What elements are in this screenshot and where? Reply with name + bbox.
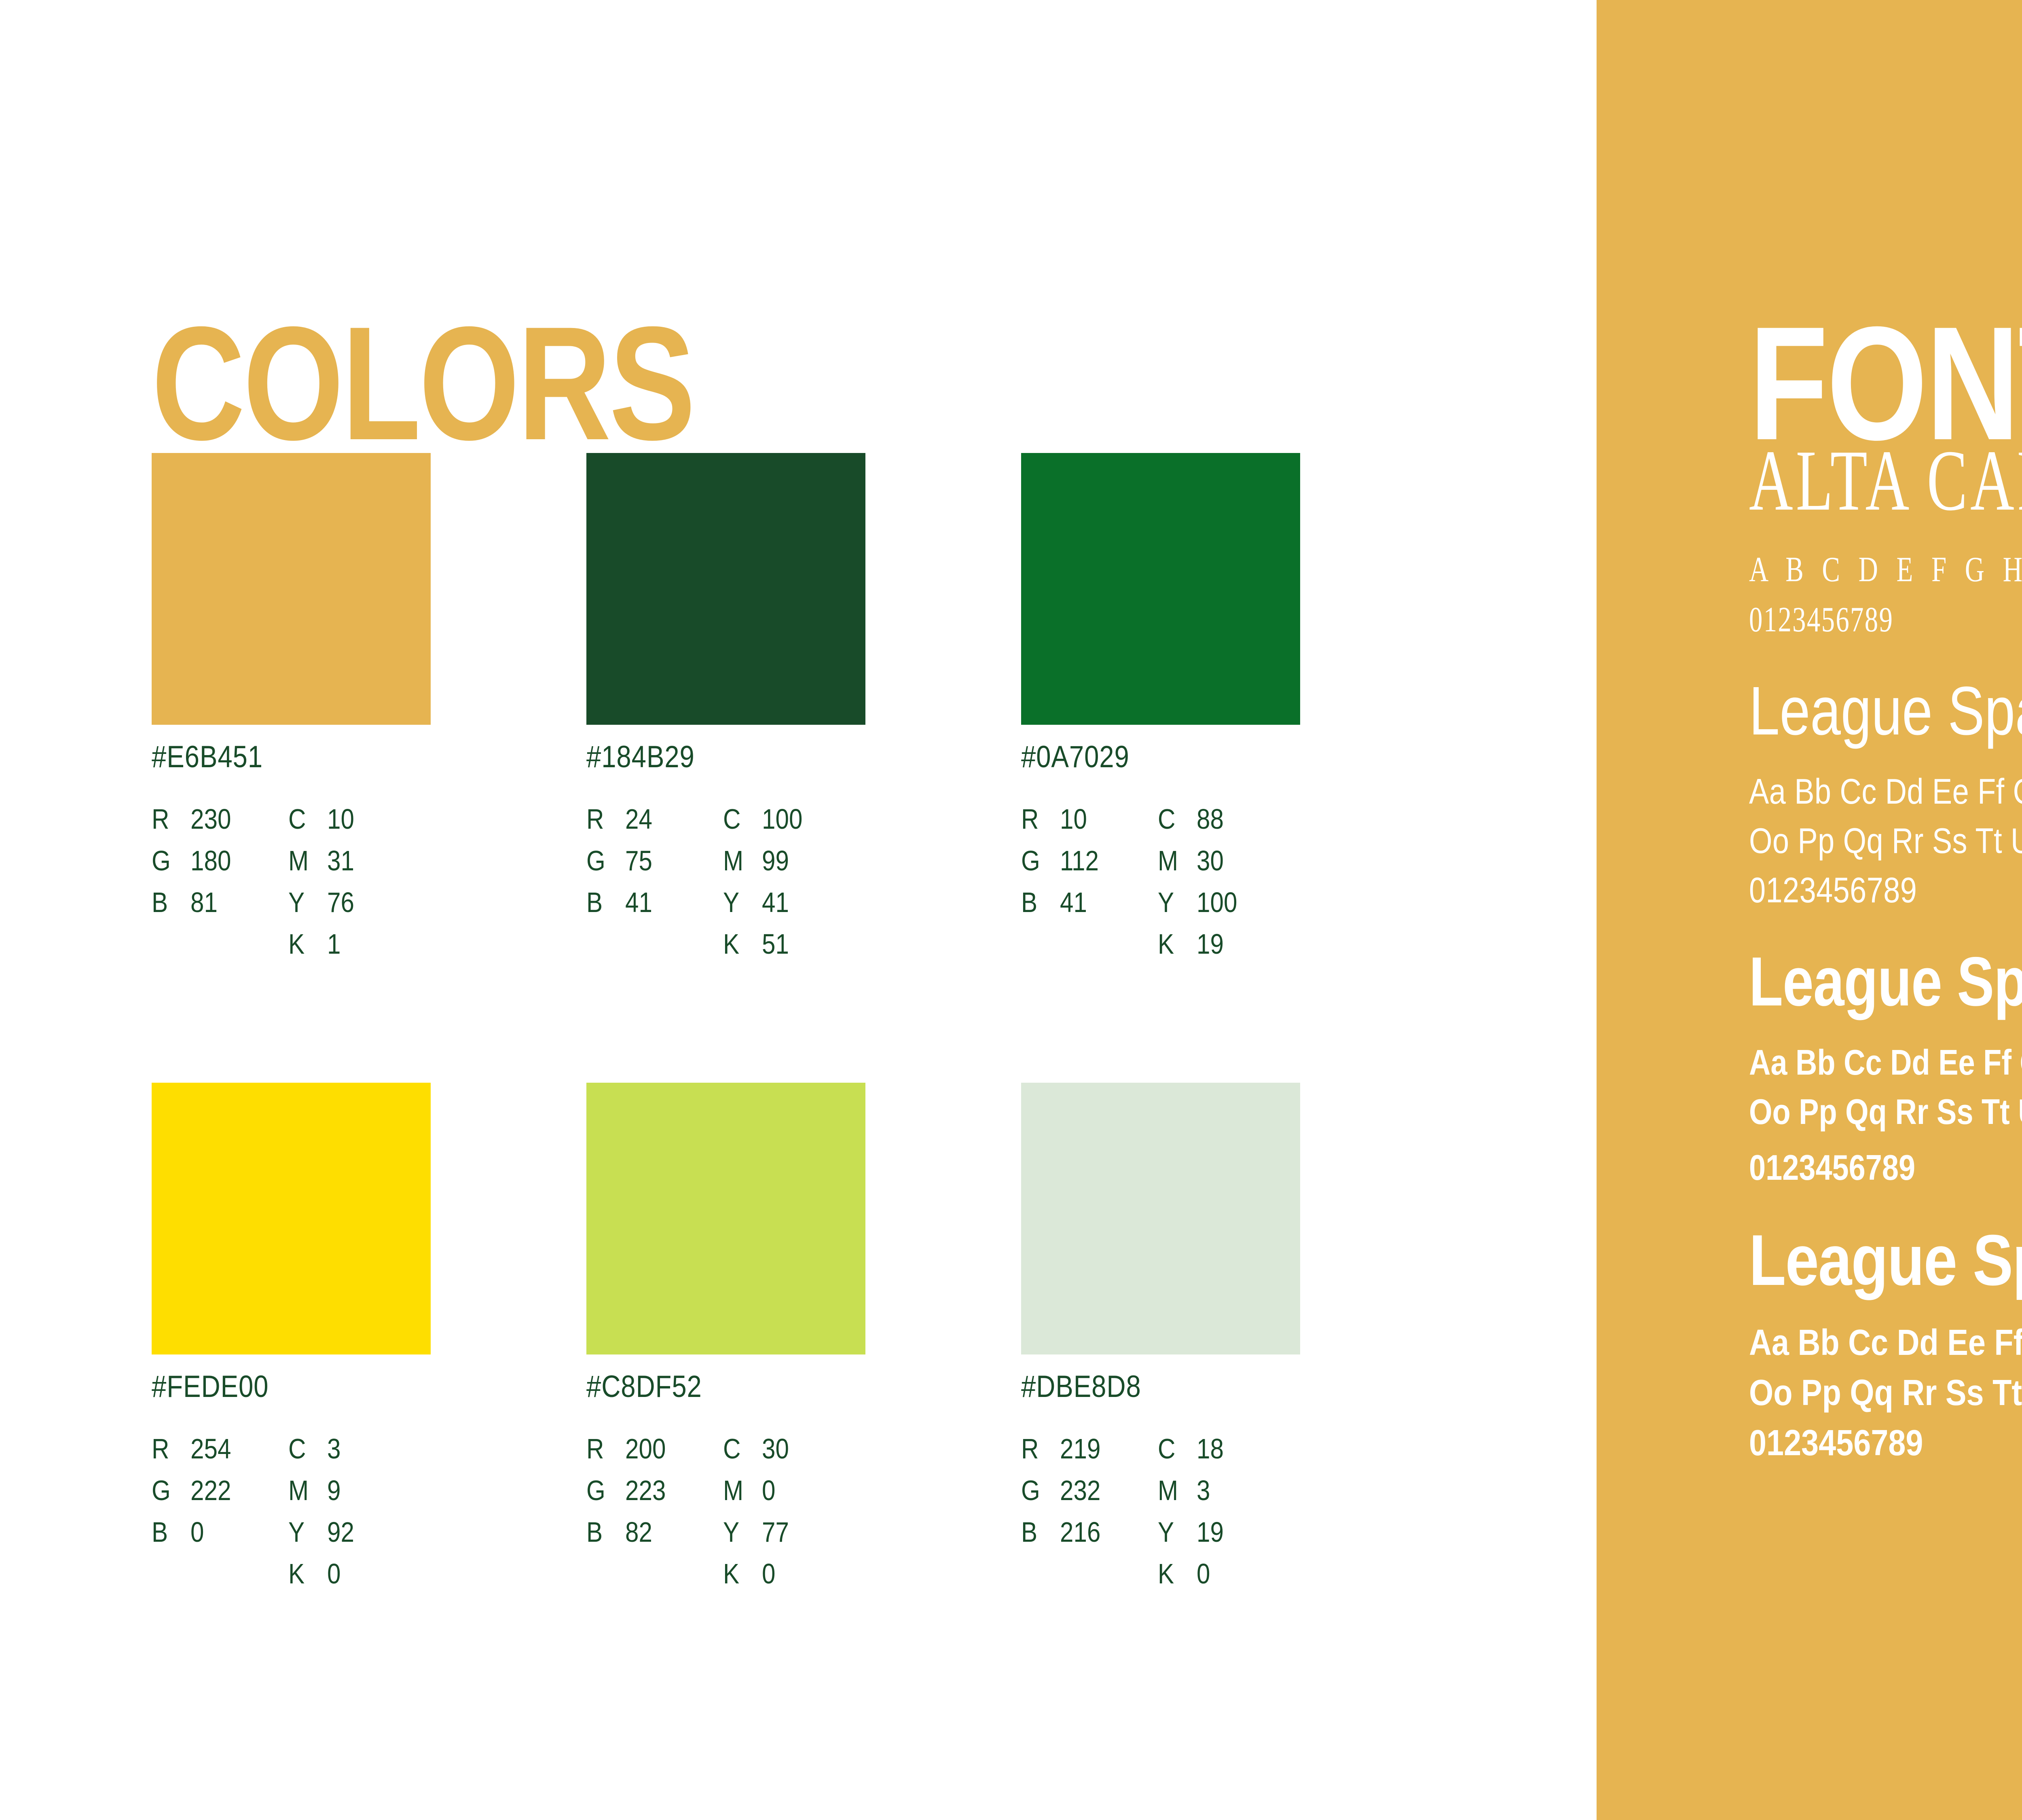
- rgb-column: R10 G112 B41: [1021, 805, 1158, 971]
- rgb-row: G180: [152, 847, 288, 888]
- cmyk-value: 76: [327, 888, 354, 916]
- font-specimen-alta-caption[interactable]: ALTA CAPTION A B C D E F G H I J K L M N…: [1749, 437, 2022, 638]
- color-chip: [586, 1083, 865, 1354]
- cmyk-value: 1: [327, 930, 341, 958]
- cmyk-row: M30: [1158, 847, 1294, 888]
- rgb-column: R230 G180 B81: [152, 805, 288, 971]
- cmyk-key: M: [723, 847, 757, 875]
- rgb-value: 0: [190, 1518, 204, 1546]
- swatch-hex-label: #0A7029: [1021, 742, 1261, 772]
- rgb-row: R200: [586, 1435, 723, 1476]
- cmyk-key: M: [288, 1476, 322, 1505]
- color-chip: [1021, 453, 1300, 725]
- color-chip: [152, 453, 431, 725]
- cmyk-row: Y92: [288, 1518, 425, 1560]
- rgb-value: 232: [1060, 1476, 1100, 1505]
- cmyk-key: C: [723, 805, 757, 833]
- cmyk-value: 100: [1197, 888, 1237, 916]
- cmyk-key: K: [1158, 1560, 1191, 1588]
- rgb-row: G223: [586, 1476, 723, 1518]
- cmyk-value: 51: [762, 930, 789, 958]
- cmyk-row: M9: [288, 1476, 425, 1518]
- cmyk-key: C: [1158, 805, 1191, 833]
- rgb-row: B41: [1021, 888, 1158, 930]
- font-specimen-line-1: Aa Bb Cc Dd Ee Ff Gg Hh Ii Jj Kk Ll Mm N…: [1749, 1325, 2022, 1361]
- font-specimen-uppercase: A B C D E F G H I J K L M N O P Q R S T …: [1749, 552, 2022, 588]
- swatch-values: R254 G222 B0 C3 M9 Y92 K0: [152, 1435, 431, 1601]
- rgb-key: G: [1021, 847, 1055, 875]
- colors-panel: COLORS #E6B451 R230 G180 B81: [0, 0, 1597, 1820]
- cmyk-column: C88 M30 Y100 K19: [1158, 805, 1294, 971]
- rgb-column: R24 G75 B41: [586, 805, 723, 971]
- cmyk-value: 99: [762, 847, 789, 875]
- rgb-key: R: [1021, 805, 1055, 833]
- rgb-key: R: [1021, 1435, 1055, 1463]
- swatch-hex-label: #184B29: [586, 742, 826, 772]
- rgb-value: 10: [1060, 805, 1087, 833]
- cmyk-row: C30: [723, 1435, 860, 1476]
- cmyk-value: 77: [762, 1518, 789, 1546]
- rgb-key: G: [152, 1476, 185, 1505]
- cmyk-row: M0: [723, 1476, 860, 1518]
- rgb-key: B: [586, 888, 620, 916]
- cmyk-value: 10: [327, 805, 354, 833]
- cmyk-row: K0: [1158, 1560, 1294, 1601]
- color-swatch-card[interactable]: #FEDE00 R254 G222 B0 C3 M9 Y92 K0: [152, 1083, 431, 1601]
- rgb-row: R10: [1021, 805, 1158, 847]
- rgb-row: G75: [586, 847, 723, 888]
- cmyk-key: K: [288, 930, 322, 958]
- rgb-row: R219: [1021, 1435, 1158, 1476]
- cmyk-value: 19: [1197, 1518, 1224, 1546]
- cmyk-value: 0: [327, 1560, 341, 1588]
- page-title-colors: COLORS: [152, 303, 694, 464]
- rgb-value: 41: [1060, 888, 1087, 916]
- color-chip: [1021, 1083, 1300, 1354]
- font-specimen-numerals: 0123456789: [1749, 1150, 2022, 1185]
- cmyk-value: 31: [327, 847, 354, 875]
- cmyk-row: M3: [1158, 1476, 1294, 1518]
- cmyk-value: 3: [1197, 1476, 1210, 1505]
- swatch-row: #FEDE00 R254 G222 B0 C3 M9 Y92 K0: [152, 1083, 1365, 1601]
- cmyk-row: C10: [288, 805, 425, 847]
- rgb-value: 81: [190, 888, 218, 916]
- cmyk-row: Y77: [723, 1518, 860, 1560]
- swatch-hex-label: #E6B451: [152, 742, 391, 772]
- cmyk-row: K0: [723, 1560, 860, 1601]
- rgb-key: G: [152, 847, 185, 875]
- cmyk-row: C88: [1158, 805, 1294, 847]
- font-specimen-line-1: Aa Bb Cc Dd Ee Ff Gg Hh Ii Jj Kk Ll Mm N…: [1749, 1045, 2022, 1080]
- rgb-key: R: [586, 1435, 620, 1463]
- rgb-key: R: [152, 1435, 185, 1463]
- rgb-column: R219 G232 B216: [1021, 1435, 1158, 1601]
- cmyk-value: 41: [762, 888, 789, 916]
- cmyk-key: M: [723, 1476, 757, 1505]
- cmyk-value: 3: [327, 1435, 341, 1463]
- rgb-value: 200: [625, 1435, 666, 1463]
- rgb-column: R200 G223 B82: [586, 1435, 723, 1601]
- font-specimen-numerals: 0123456789: [1749, 1425, 2022, 1461]
- color-swatch-card[interactable]: #DBE8D8 R219 G232 B216 C18 M3 Y19 K: [1021, 1083, 1300, 1601]
- font-specimen-league-spartan-medium[interactable]: League Spartan Medium Aa Bb Cc Dd Ee Ff …: [1749, 947, 2022, 1185]
- rgb-row: R254: [152, 1435, 288, 1476]
- font-specimen-line-2: Oo Pp Qq Rr Ss Tt Uu Vv Ww Xx Yy Zz: [1749, 1094, 2022, 1130]
- font-specimen-line-1: Aa Bb Cc Dd Ee Ff Gg Hh Ii Jj Kk Ll Mm N…: [1749, 774, 2022, 809]
- cmyk-row: M31: [288, 847, 425, 888]
- cmyk-key: C: [288, 805, 322, 833]
- cmyk-row: C18: [1158, 1435, 1294, 1476]
- cmyk-value: 0: [762, 1476, 775, 1505]
- rgb-value: 222: [190, 1476, 231, 1505]
- cmyk-key: C: [288, 1435, 322, 1463]
- cmyk-key: Y: [288, 1518, 322, 1546]
- rgb-key: G: [1021, 1476, 1055, 1505]
- cmyk-column: C100 M99 Y41 K51: [723, 805, 860, 971]
- rgb-row: B82: [586, 1518, 723, 1560]
- rgb-key: R: [152, 805, 185, 833]
- rgb-value: 75: [625, 847, 652, 875]
- cmyk-row: Y19: [1158, 1518, 1294, 1560]
- cmyk-column: C10 M31 Y76 K1: [288, 805, 425, 971]
- rgb-row: B81: [152, 888, 288, 930]
- color-chip: [586, 453, 865, 725]
- cmyk-key: Y: [723, 888, 757, 916]
- cmyk-value: 92: [327, 1518, 354, 1546]
- rgb-key: B: [1021, 888, 1055, 916]
- rgb-value: 216: [1060, 1518, 1100, 1546]
- swatch-values: R219 G232 B216 C18 M3 Y19 K0: [1021, 1435, 1300, 1601]
- swatch-values: R200 G223 B82 C30 M0 Y77 K0: [586, 1435, 865, 1601]
- swatch-row: #E6B451 R230 G180 B81 C10 M31 Y76 K: [152, 453, 1365, 971]
- cmyk-value: 0: [1197, 1560, 1210, 1588]
- cmyk-key: C: [1158, 1435, 1191, 1463]
- cmyk-row: K1: [288, 930, 425, 971]
- swatch-hex-label: #C8DF52: [586, 1371, 826, 1402]
- rgb-column: R254 G222 B0: [152, 1435, 288, 1601]
- font-specimen-line-2: Oo Pp Qq Rr Ss Tt Uu Vv Ww Xx Yy Zz: [1749, 823, 2022, 859]
- rgb-value: 24: [625, 805, 652, 833]
- rgb-row: B41: [586, 888, 723, 930]
- cmyk-row: Y76: [288, 888, 425, 930]
- cmyk-key: M: [288, 847, 322, 875]
- cmyk-key: K: [1158, 930, 1191, 958]
- rgb-key: G: [586, 847, 620, 875]
- color-chip: [152, 1083, 431, 1354]
- color-swatch-card[interactable]: #184B29 R24 G75 B41 C100 M99 Y41 K5: [586, 453, 865, 971]
- cmyk-row: K0: [288, 1560, 425, 1601]
- cmyk-row: C3: [288, 1435, 425, 1476]
- color-swatch-card[interactable]: #E6B451 R230 G180 B81 C10 M31 Y76 K: [152, 453, 431, 971]
- style-guide-page: COLORS #E6B451 R230 G180 B81: [0, 0, 2022, 1820]
- cmyk-key: K: [723, 1560, 757, 1588]
- color-swatch-grid: #E6B451 R230 G180 B81 C10 M31 Y76 K: [152, 453, 1365, 1712]
- cmyk-key: K: [723, 930, 757, 958]
- font-name-label: League Spartan Light: [1749, 677, 2022, 745]
- cmyk-value: 9: [327, 1476, 341, 1505]
- cmyk-column: C3 M9 Y92 K0: [288, 1435, 425, 1601]
- rgb-key: R: [586, 805, 620, 833]
- cmyk-value: 19: [1197, 930, 1224, 958]
- rgb-row: R230: [152, 805, 288, 847]
- cmyk-row: M99: [723, 847, 860, 888]
- cmyk-key: K: [288, 1560, 322, 1588]
- font-specimen-numerals: 0123456789: [1749, 602, 2022, 638]
- rgb-row: G232: [1021, 1476, 1158, 1518]
- cmyk-value: 30: [1197, 847, 1224, 875]
- rgb-value: 180: [190, 847, 231, 875]
- rgb-value: 230: [190, 805, 231, 833]
- cmyk-row: C100: [723, 805, 860, 847]
- fonts-panel: FONTS ALTA CAPTION A B C D E F G H I J K…: [1597, 0, 2022, 1820]
- color-swatch-card[interactable]: #C8DF52 R200 G223 B82 C30 M0 Y77 K0: [586, 1083, 865, 1601]
- cmyk-row: Y41: [723, 888, 860, 930]
- rgb-value: 219: [1060, 1435, 1100, 1463]
- font-specimen-league-spartan-bold[interactable]: League Spartan Bold Aa Bb Cc Dd Ee Ff Gg…: [1749, 1224, 2022, 1461]
- swatch-values: R24 G75 B41 C100 M99 Y41 K51: [586, 805, 865, 971]
- rgb-key: B: [152, 888, 185, 916]
- cmyk-row: Y100: [1158, 888, 1294, 930]
- font-specimen-list: ALTA CAPTION A B C D E F G H I J K L M N…: [1749, 437, 2022, 1500]
- cmyk-column: C18 M3 Y19 K0: [1158, 1435, 1294, 1601]
- rgb-value: 112: [1060, 847, 1099, 875]
- cmyk-value: 0: [762, 1560, 775, 1588]
- cmyk-value: 30: [762, 1435, 789, 1463]
- cmyk-column: C30 M0 Y77 K0: [723, 1435, 860, 1601]
- rgb-value: 223: [625, 1476, 666, 1505]
- swatch-values: R10 G112 B41 C88 M30 Y100 K19: [1021, 805, 1300, 971]
- rgb-value: 41: [625, 888, 652, 916]
- rgb-row: R24: [586, 805, 723, 847]
- rgb-key: B: [1021, 1518, 1055, 1546]
- rgb-key: B: [152, 1518, 185, 1546]
- font-specimen-line-2: Oo Pp Qq Rr Ss Tt Uu Vv Ww Xx Yy Zz: [1749, 1375, 2022, 1411]
- font-name-label: ALTA CAPTION: [1749, 437, 2022, 524]
- cmyk-key: Y: [723, 1518, 757, 1546]
- rgb-value: 254: [190, 1435, 231, 1463]
- swatch-hex-label: #FEDE00: [152, 1371, 391, 1402]
- cmyk-key: Y: [1158, 888, 1191, 916]
- cmyk-row: K51: [723, 930, 860, 971]
- font-name-label: League Spartan Bold: [1749, 1224, 2022, 1296]
- cmyk-key: Y: [288, 888, 322, 916]
- cmyk-value: 100: [762, 805, 802, 833]
- rgb-key: G: [586, 1476, 620, 1505]
- swatch-values: R230 G180 B81 C10 M31 Y76 K1: [152, 805, 431, 971]
- rgb-row: G222: [152, 1476, 288, 1518]
- font-name-label: League Spartan Medium: [1749, 947, 2022, 1016]
- cmyk-key: Y: [1158, 1518, 1191, 1546]
- cmyk-value: 88: [1197, 805, 1224, 833]
- color-swatch-card[interactable]: #0A7029 R10 G112 B41 C88 M30 Y100 K: [1021, 453, 1300, 971]
- font-specimen-league-spartan-light[interactable]: League Spartan Light Aa Bb Cc Dd Ee Ff G…: [1749, 677, 2022, 908]
- rgb-row: B216: [1021, 1518, 1158, 1560]
- swatch-hex-label: #DBE8D8: [1021, 1371, 1261, 1402]
- cmyk-key: C: [723, 1435, 757, 1463]
- cmyk-value: 18: [1197, 1435, 1224, 1463]
- rgb-row: B0: [152, 1518, 288, 1560]
- cmyk-row: K19: [1158, 930, 1294, 971]
- rgb-key: B: [586, 1518, 620, 1546]
- rgb-row: G112: [1021, 847, 1158, 888]
- cmyk-key: M: [1158, 1476, 1191, 1505]
- rgb-value: 82: [625, 1518, 652, 1546]
- cmyk-key: M: [1158, 847, 1191, 875]
- font-specimen-numerals: 0123456789: [1749, 872, 2022, 908]
